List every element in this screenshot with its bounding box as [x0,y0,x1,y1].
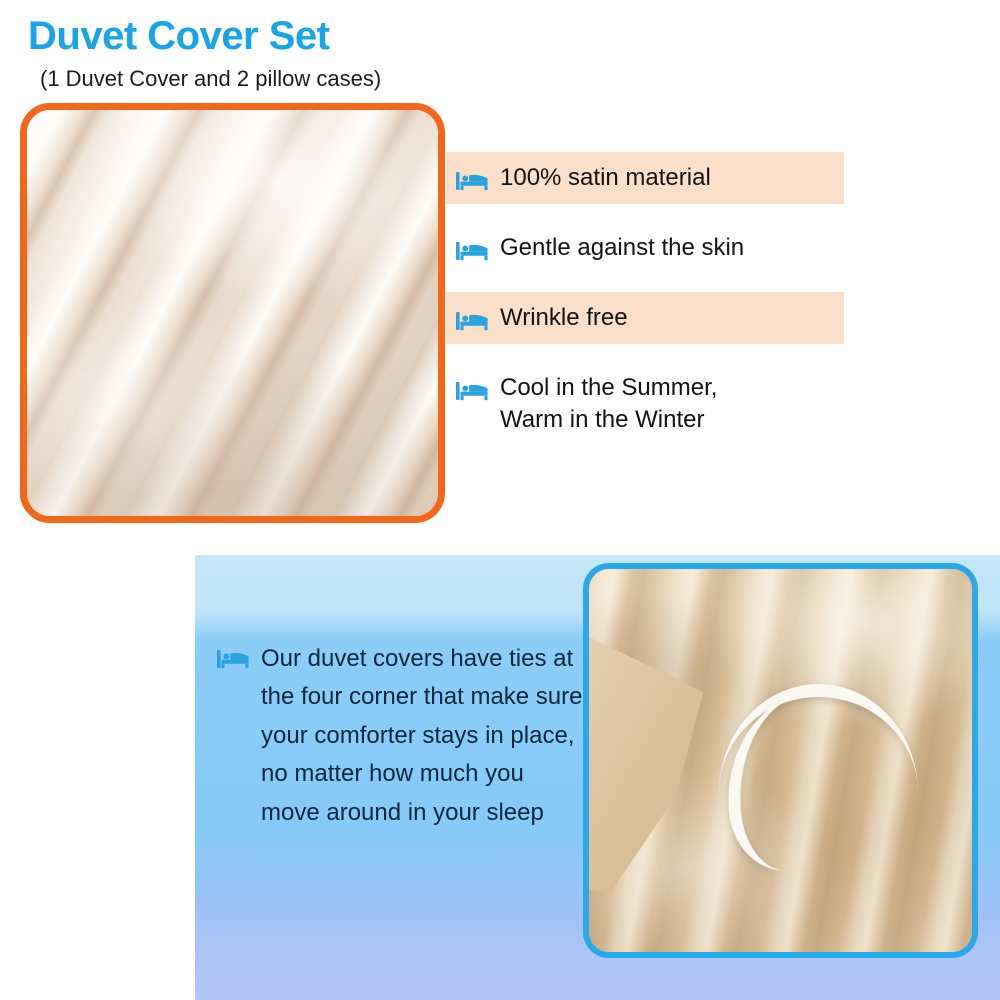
satin-fabric-sheen [27,110,438,516]
feature-list: 100% satin material Gentle against the s… [446,152,844,445]
bed-icon [456,309,490,333]
bed-icon [217,647,251,671]
feature-spacer [446,204,844,222]
satin-fabric-photo [20,103,445,523]
feature-label: Gentle against the skin [500,232,744,264]
feature-spacer [446,344,844,362]
infographic-canvas: Duvet Cover Set (1 Duvet Cover and 2 pil… [0,0,1000,1000]
tie-feature-text: Our duvet covers have ties at the four c… [261,640,587,832]
feature-label: Wrinkle free [500,302,628,334]
feature-item-wrinkle-free: Wrinkle free [446,292,844,344]
feature-label: 100% satin material [500,162,711,194]
duvet-tie-photo [583,563,978,958]
bed-icon [456,169,490,193]
feature-item-cool-warm: Cool in the Summer, Warm in the Winter [446,362,844,445]
page-subtitle: (1 Duvet Cover and 2 pillow cases) [40,68,381,90]
feature-item-satin-material: 100% satin material [446,152,844,204]
bed-icon [456,239,490,263]
bed-icon [456,379,490,403]
tie-feature-blurb: Our duvet covers have ties at the four c… [217,640,587,832]
feature-spacer [446,274,844,292]
feature-label: Cool in the Summer, Warm in the Winter [500,372,717,435]
page-title: Duvet Cover Set [28,16,329,56]
feature-item-gentle-skin: Gentle against the skin [446,222,844,274]
